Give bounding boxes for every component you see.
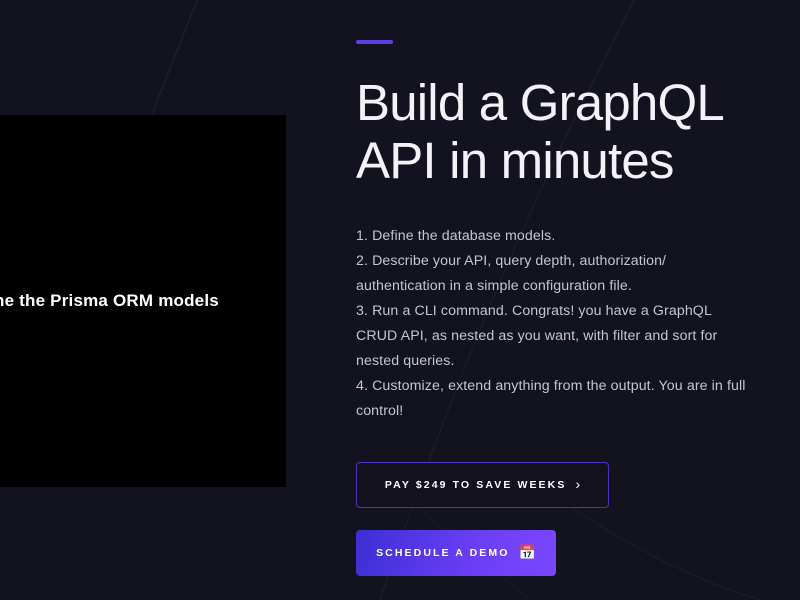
pay-button-label: PAY $249 TO SAVE WEEKS (385, 479, 567, 491)
schedule-demo-button-label: SCHEDULE A DEMO (376, 547, 509, 559)
schedule-a-demo-button[interactable]: SCHEDULE A DEMO 📅 (356, 530, 556, 576)
accent-bar (356, 40, 393, 44)
page-root: Define the Prisma ORM models Build a Gra… (0, 0, 800, 600)
page-title: Build a GraphQL API in minutes (356, 74, 756, 190)
chevron-right-icon: › (575, 477, 580, 491)
prisma-orm-card: Define the Prisma ORM models (0, 115, 286, 487)
list-item: 2. Describe your API, query depth, autho… (356, 249, 756, 299)
steps-list: 1. Define the database models. 2. Descri… (356, 224, 756, 424)
list-item: 3. Run a CLI command. Congrats! you have… (356, 299, 756, 374)
list-item: 4. Customize, extend anything from the o… (356, 374, 756, 424)
calendar-icon: 📅 (518, 545, 535, 559)
prisma-orm-card-title: Define the Prisma ORM models (0, 280, 235, 323)
list-item: 1. Define the database models. (356, 224, 756, 249)
pay-to-save-weeks-button[interactable]: PAY $249 TO SAVE WEEKS › (356, 462, 609, 508)
hero-content: Build a GraphQL API in minutes 1. Define… (356, 40, 756, 576)
